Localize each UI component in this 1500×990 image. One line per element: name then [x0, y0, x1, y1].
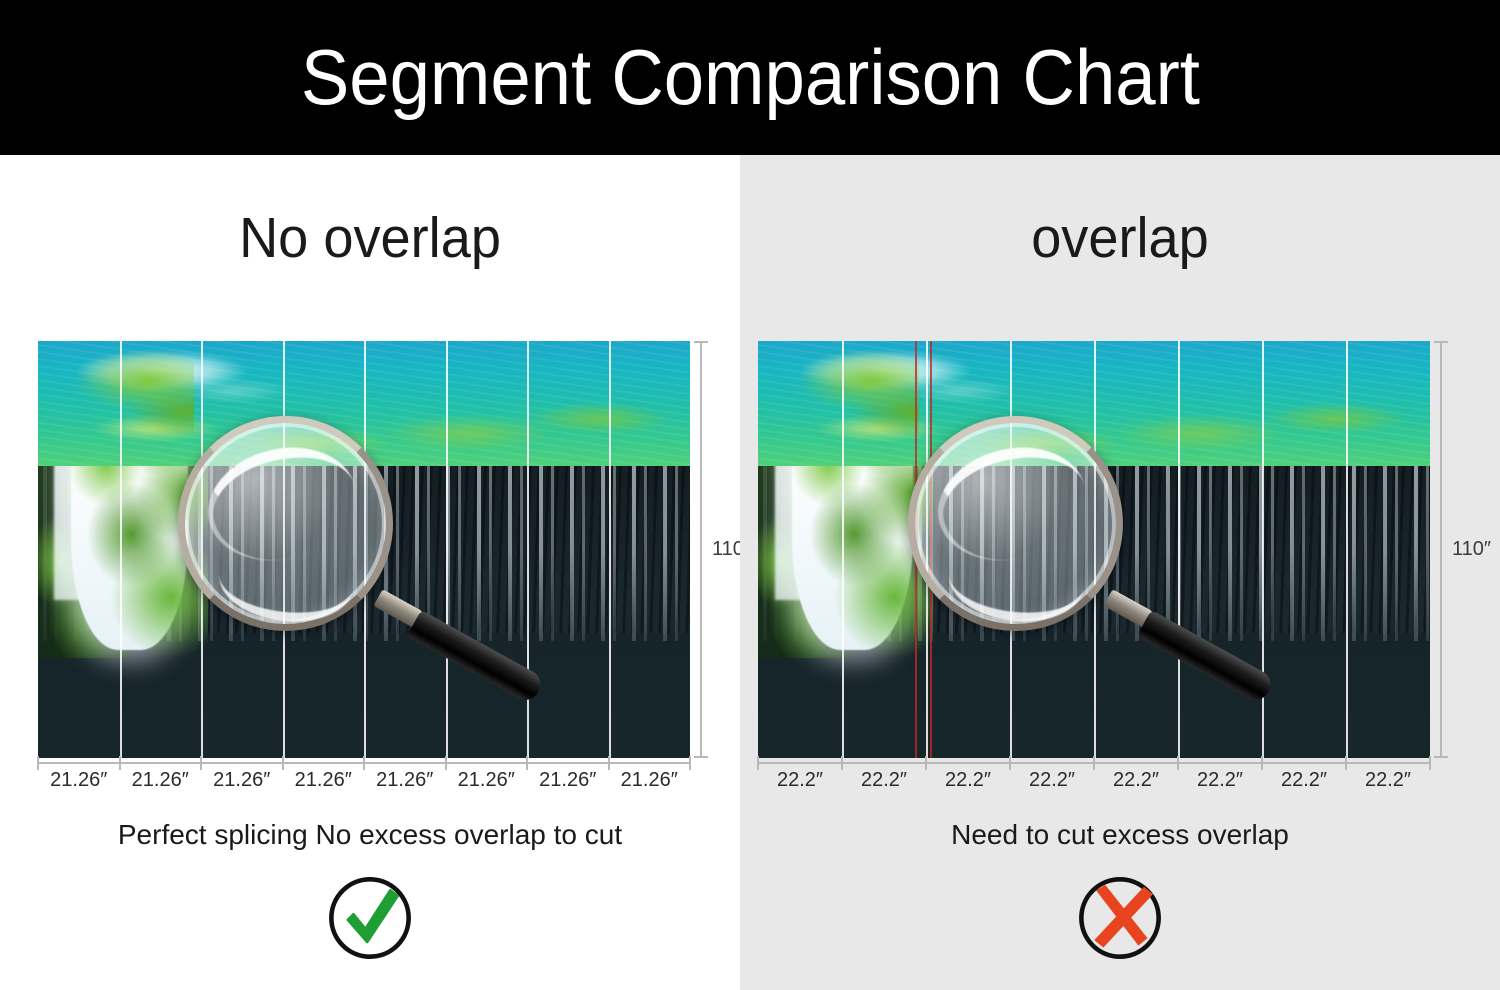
- caption-no-overlap: Perfect splicing No excess overlap to cu…: [0, 819, 740, 851]
- dimension-tick: [608, 756, 610, 770]
- mural-photo: [38, 341, 690, 758]
- dimension-tick: [363, 756, 365, 770]
- dimension-tick: [37, 756, 39, 770]
- segment-width-label: 21.26″: [283, 769, 365, 792]
- segment-width-label: 21.26″: [38, 769, 120, 792]
- verdict-check: [324, 872, 416, 964]
- dimension-cap-bottom: [694, 756, 708, 758]
- check-mark-icon: [324, 872, 416, 964]
- caption-overlap: Need to cut excess overlap: [740, 819, 1500, 851]
- panel-overlap: overlap: [740, 155, 1500, 990]
- segment-width-label: 22.2″: [1010, 769, 1094, 792]
- dimension-tick: [1093, 756, 1095, 770]
- green-bank: [758, 341, 919, 441]
- panel-heading-overlap: overlap: [759, 205, 1481, 271]
- dimension-tick: [200, 756, 202, 770]
- segment-width-label: 21.26″: [609, 769, 691, 792]
- dimension-line: [1440, 341, 1442, 758]
- segment-width-label: 21.26″: [446, 769, 528, 792]
- segment-width-label: 21.26″: [120, 769, 202, 792]
- green-bank: [38, 341, 194, 441]
- panel-no-overlap: No overlap: [0, 155, 740, 990]
- comparison-panels: No overlap: [0, 155, 1500, 990]
- dimension-tick: [1429, 756, 1431, 770]
- dimension-tick: [925, 756, 927, 770]
- segment-width-label: 22.2″: [758, 769, 842, 792]
- dimension-tick: [689, 756, 691, 770]
- panel-heading-no-overlap: No overlap: [19, 205, 722, 271]
- segment-width-label: 22.2″: [842, 769, 926, 792]
- segment-width-label: 22.2″: [926, 769, 1010, 792]
- segment-width-label: 21.26″: [364, 769, 446, 792]
- verdict-cross: [1074, 872, 1166, 964]
- segment-labels-right: 22.2″22.2″22.2″22.2″22.2″22.2″22.2″22.2″: [758, 769, 1430, 792]
- title-banner: Segment Comparison Chart: [0, 0, 1500, 155]
- height-dimension-line-right: [1434, 341, 1448, 758]
- dimension-tick: [445, 756, 447, 770]
- dimension-cap-bottom: [1434, 756, 1448, 758]
- height-label-right: 110″: [1452, 538, 1491, 561]
- mural-no-overlap: [38, 341, 690, 758]
- dimension-tick: [282, 756, 284, 770]
- dimension-tick: [841, 756, 843, 770]
- segment-width-label: 21.26″: [527, 769, 609, 792]
- dimension-tick: [1261, 756, 1263, 770]
- dimension-tick: [119, 756, 121, 770]
- segment-width-label: 21.26″: [201, 769, 283, 792]
- page-title: Segment Comparison Chart: [300, 32, 1199, 123]
- cross-mark-icon: [1074, 872, 1166, 964]
- segment-labels-left: 21.26″21.26″21.26″21.26″21.26″21.26″21.2…: [38, 769, 690, 792]
- segment-width-label: 22.2″: [1094, 769, 1178, 792]
- segment-width-label: 22.2″: [1178, 769, 1262, 792]
- segment-width-label: 22.2″: [1262, 769, 1346, 792]
- dimension-tick: [1009, 756, 1011, 770]
- dimension-tick: [757, 756, 759, 770]
- segment-comparison-page: Segment Comparison Chart No overlap: [0, 0, 1500, 990]
- mural-photo: [758, 341, 1430, 758]
- dimension-tick: [1177, 756, 1179, 770]
- dimension-line: [700, 341, 702, 758]
- height-dimension-line-left: [694, 341, 708, 758]
- dimension-tick: [526, 756, 528, 770]
- segment-width-label: 22.2″: [1346, 769, 1430, 792]
- mural-overlap: [758, 341, 1430, 758]
- dimension-tick: [1345, 756, 1347, 770]
